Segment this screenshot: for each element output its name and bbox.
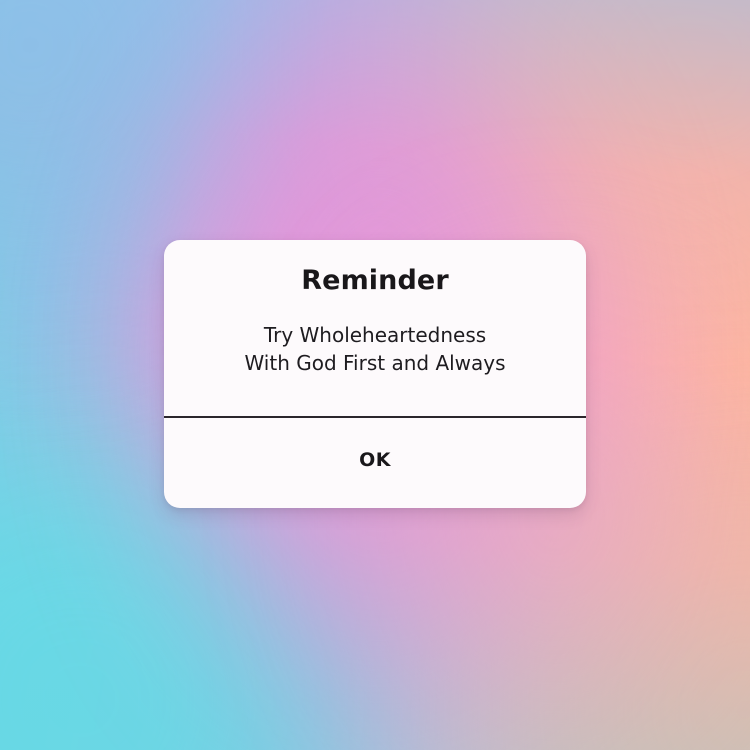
dialog-content: Reminder Try Wholeheartedness With God F… [164, 240, 586, 416]
dialog-title: Reminder [301, 266, 448, 296]
dialog-action-bar: OK [164, 418, 586, 508]
dialog-message: Try Wholeheartedness With God First and … [226, 321, 523, 378]
dialog-message-line-1: Try Wholeheartedness [244, 321, 505, 349]
dialog-message-line-2: With God First and Always [244, 349, 505, 377]
reminder-dialog: Reminder Try Wholeheartedness With God F… [164, 240, 586, 508]
ok-button[interactable]: OK [333, 439, 417, 481]
